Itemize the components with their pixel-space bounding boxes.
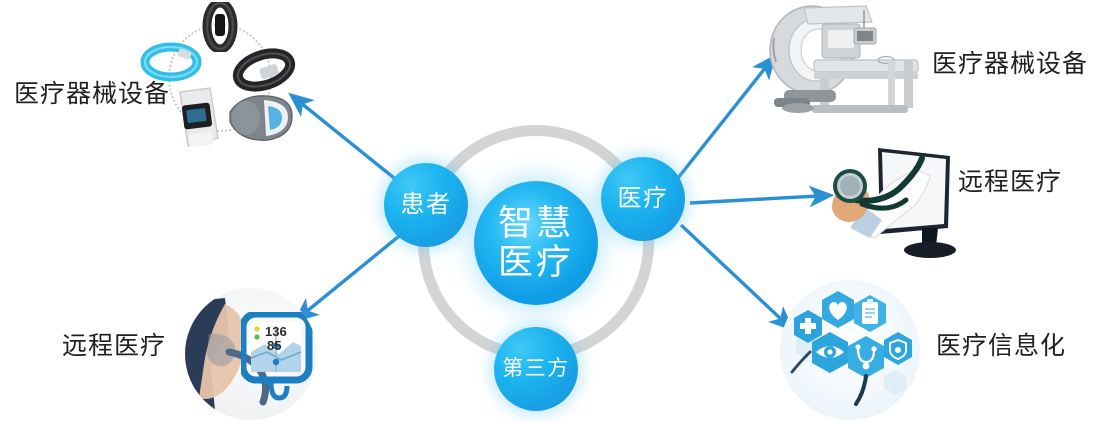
label-right-telemed: 远程医疗 [958, 170, 1062, 195]
image-medical-hexagon-icons [780, 280, 920, 420]
image-wearable-band-cluster [140, 2, 300, 152]
label-right-devices: 医疗器械设备 [932, 52, 1088, 77]
hexagon-icon-grid [780, 280, 920, 420]
arrow-patient-to-left-devices [301, 103, 404, 186]
stethoscope-icon [848, 336, 884, 378]
diagram-canvas: 智慧 医疗 患者 医疗 第三方 [0, 0, 1098, 423]
center-node-line2: 医疗 [498, 243, 574, 282]
image-ct-scanner-machine [762, 2, 930, 120]
smartband-grey-bottom-right [224, 88, 298, 150]
hub-node-medical-label: 医疗 [618, 186, 669, 213]
fitness-band-cyan-left [140, 38, 202, 86]
eye-icon [812, 332, 848, 373]
image-doctor-stethoscope-monitor [822, 142, 962, 264]
label-left-devices: 医疗器械设备 [14, 82, 170, 107]
arrow-medical-to-right-devices [678, 67, 766, 178]
image-blood-pressure-monitor: 136 85 [185, 288, 317, 420]
cross-icon [794, 310, 822, 343]
center-node-smart-healthcare[interactable]: 智慧 医疗 [474, 181, 598, 305]
smartwatch-white-bottom-left [166, 86, 228, 150]
heart-icon [822, 291, 854, 328]
shield-icon [884, 332, 912, 365]
hub-node-thirdparty-label: 第三方 [502, 357, 570, 381]
center-node-line1: 智慧 [498, 204, 574, 243]
hub-node-patient[interactable]: 患者 [384, 163, 468, 247]
clipboard-icon [854, 295, 886, 332]
arrow-medical-to-right-info [681, 225, 782, 320]
hub-node-thirdparty[interactable]: 第三方 [494, 327, 578, 411]
hub-node-patient-label: 患者 [401, 192, 452, 219]
hub-node-medical[interactable]: 医疗 [601, 157, 685, 241]
arrow-medical-to-right-telemed [690, 196, 818, 203]
bp-systolic-value: 136 [265, 324, 287, 339]
label-right-info: 医疗信息化 [936, 334, 1066, 359]
bp-diastolic-value: 85 [267, 338, 281, 353]
arrow-patient-to-left-telemed [306, 232, 404, 312]
label-left-telemed: 远程医疗 [62, 334, 166, 359]
